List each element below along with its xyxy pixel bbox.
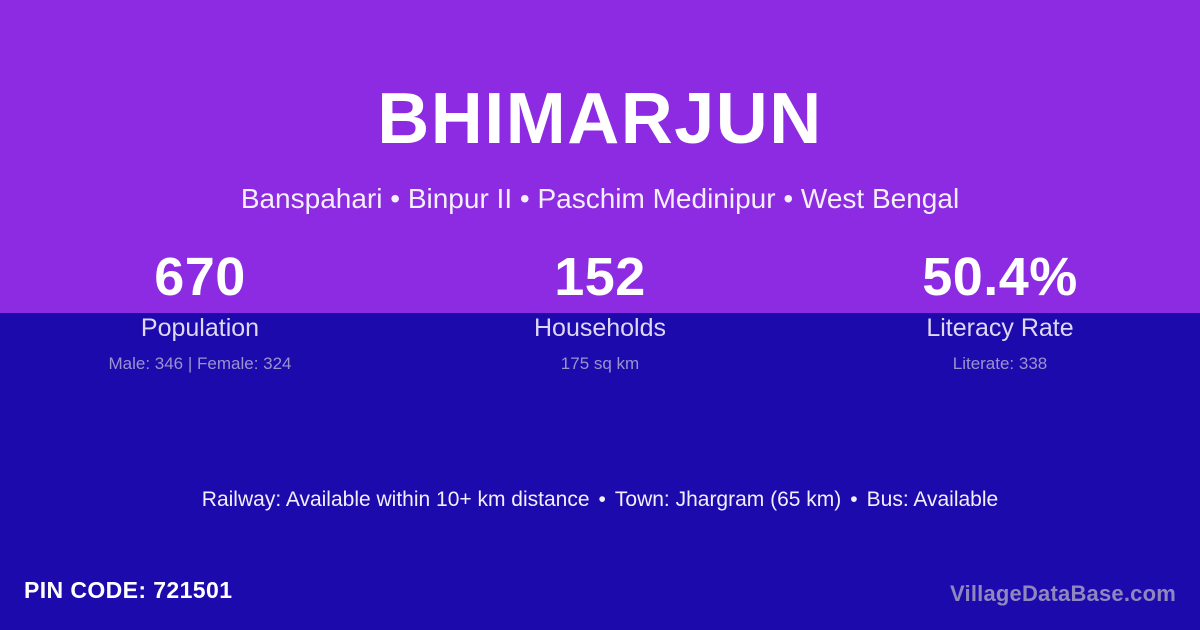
stat-literacy-rate: 50.4% Literacy Rate Literate: 338	[800, 246, 1200, 376]
stat-subtext: 175 sq km	[400, 352, 800, 376]
stats-row: 670 Population Male: 346 | Female: 324 1…	[0, 246, 1200, 376]
bus-info: Bus: Available	[867, 488, 999, 511]
page-title: BHIMARJUN	[0, 83, 1200, 155]
stat-label: Population	[0, 312, 400, 346]
breadcrumb: Banspahari • Binpur II • Paschim Medinip…	[0, 182, 1200, 216]
bullet-separator-icon: •	[841, 486, 866, 513]
stat-population: 670 Population Male: 346 | Female: 324	[0, 246, 400, 376]
stat-households: 152 Households 175 sq km	[400, 246, 800, 376]
site-branding: VillageDataBase.com	[950, 580, 1176, 609]
town-info: Town: Jhargram (65 km)	[615, 488, 841, 511]
stat-value: 670	[0, 246, 400, 310]
bullet-separator-icon: •	[590, 486, 615, 513]
stat-subtext: Male: 346 | Female: 324	[0, 352, 400, 376]
railway-info: Railway: Available within 10+ km distanc…	[202, 488, 590, 511]
stat-value: 152	[400, 246, 800, 310]
stat-label: Households	[400, 312, 800, 346]
transport-info: Railway: Available within 10+ km distanc…	[0, 486, 1200, 513]
pin-code: PIN CODE: 721501	[24, 576, 232, 606]
village-info-card: BHIMARJUN Banspahari • Binpur II • Pasch…	[0, 0, 1200, 630]
stat-subtext: Literate: 338	[800, 352, 1200, 376]
stat-label: Literacy Rate	[800, 312, 1200, 346]
stat-value: 50.4%	[800, 246, 1200, 310]
